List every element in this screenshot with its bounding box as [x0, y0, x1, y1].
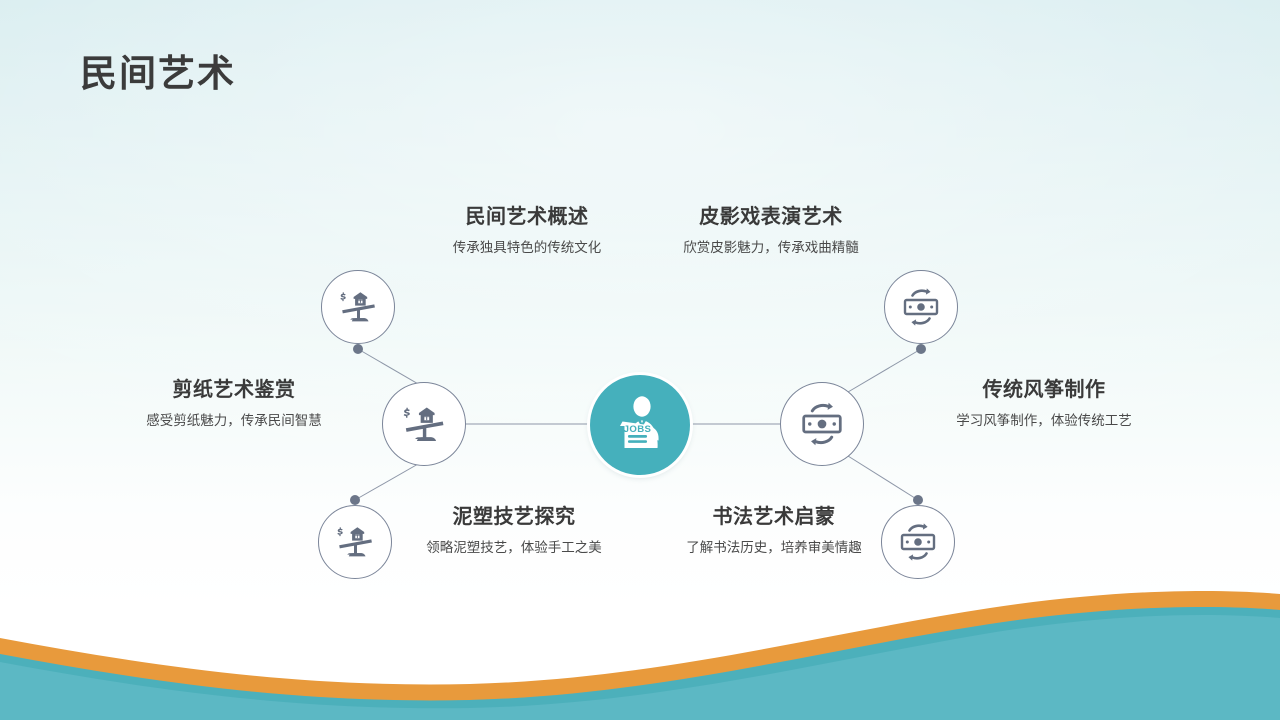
item-title: 传统风筝制作 — [930, 378, 1158, 403]
item-label-1: 皮影戏表演艺术 欣赏皮影魅力，传承戏曲精髓 — [660, 205, 882, 259]
center-hub-node[interactable]: JOBS — [590, 375, 690, 475]
item-title: 剪纸艺术鉴赏 — [120, 378, 348, 403]
item-label-0: 民间艺术概述 传承独具特色的传统文化 — [398, 205, 656, 259]
item-label-2: 剪纸艺术鉴赏 感受剪纸魅力，传承民间智慧 — [120, 378, 348, 432]
connector-dot-bottomright — [913, 495, 923, 505]
item-label-5: 书法艺术启蒙 了解书法历史，培养审美情趣 — [658, 505, 890, 559]
node-circle-top-left[interactable] — [321, 270, 395, 344]
item-desc: 感受剪纸魅力，传承民间智慧 — [120, 411, 348, 432]
item-label-3: 传统风筝制作 学习风筝制作，体验传统工艺 — [930, 378, 1158, 432]
item-desc: 学习风筝制作，体验传统工艺 — [930, 411, 1158, 432]
connector-topright — [848, 349, 921, 392]
banknote-exchange-arrows-icon — [897, 522, 939, 562]
connector-dot-bottomleft — [350, 495, 360, 505]
item-title: 书法艺术启蒙 — [658, 505, 890, 530]
connector-dot-topleft — [353, 344, 363, 354]
connector-bottomright — [848, 456, 918, 500]
node-circle-middle-left[interactable] — [382, 382, 466, 466]
balance-scale-house-money-icon — [335, 526, 375, 558]
node-circle-bottom-left[interactable] — [318, 505, 392, 579]
person-holding-jobs-sign-icon: JOBS — [609, 392, 671, 459]
connector-dot-topright — [916, 344, 926, 354]
item-title: 民间艺术概述 — [398, 205, 656, 230]
node-circle-top-right[interactable] — [884, 270, 958, 344]
item-desc: 传承独具特色的传统文化 — [398, 238, 656, 259]
slide-canvas: 民间艺术 — [0, 0, 1280, 720]
balance-scale-house-money-icon — [338, 291, 378, 323]
item-title: 泥塑技艺探究 — [400, 505, 628, 530]
item-desc: 领略泥塑技艺，体验手工之美 — [400, 538, 628, 559]
svg-text:JOBS: JOBS — [624, 424, 652, 435]
banknote-exchange-arrows-icon — [798, 401, 846, 447]
item-label-4: 泥塑技艺探究 领略泥塑技艺，体验手工之美 — [400, 505, 628, 559]
item-title: 皮影戏表演艺术 — [660, 205, 882, 230]
item-desc: 欣赏皮影魅力，传承戏曲精髓 — [660, 238, 882, 259]
node-circle-middle-right[interactable] — [780, 382, 864, 466]
item-desc: 了解书法历史，培养审美情趣 — [658, 538, 890, 559]
banknote-exchange-arrows-icon — [900, 287, 942, 327]
node-circle-bottom-right[interactable] — [881, 505, 955, 579]
balance-scale-house-money-icon — [401, 406, 447, 443]
connector-lines — [0, 0, 1280, 720]
hub-spoke-diagram: JOBS 民间艺术概述 传承独具特色的传统文化 皮影戏表演艺术 欣赏皮影魅力，传… — [0, 0, 1280, 720]
